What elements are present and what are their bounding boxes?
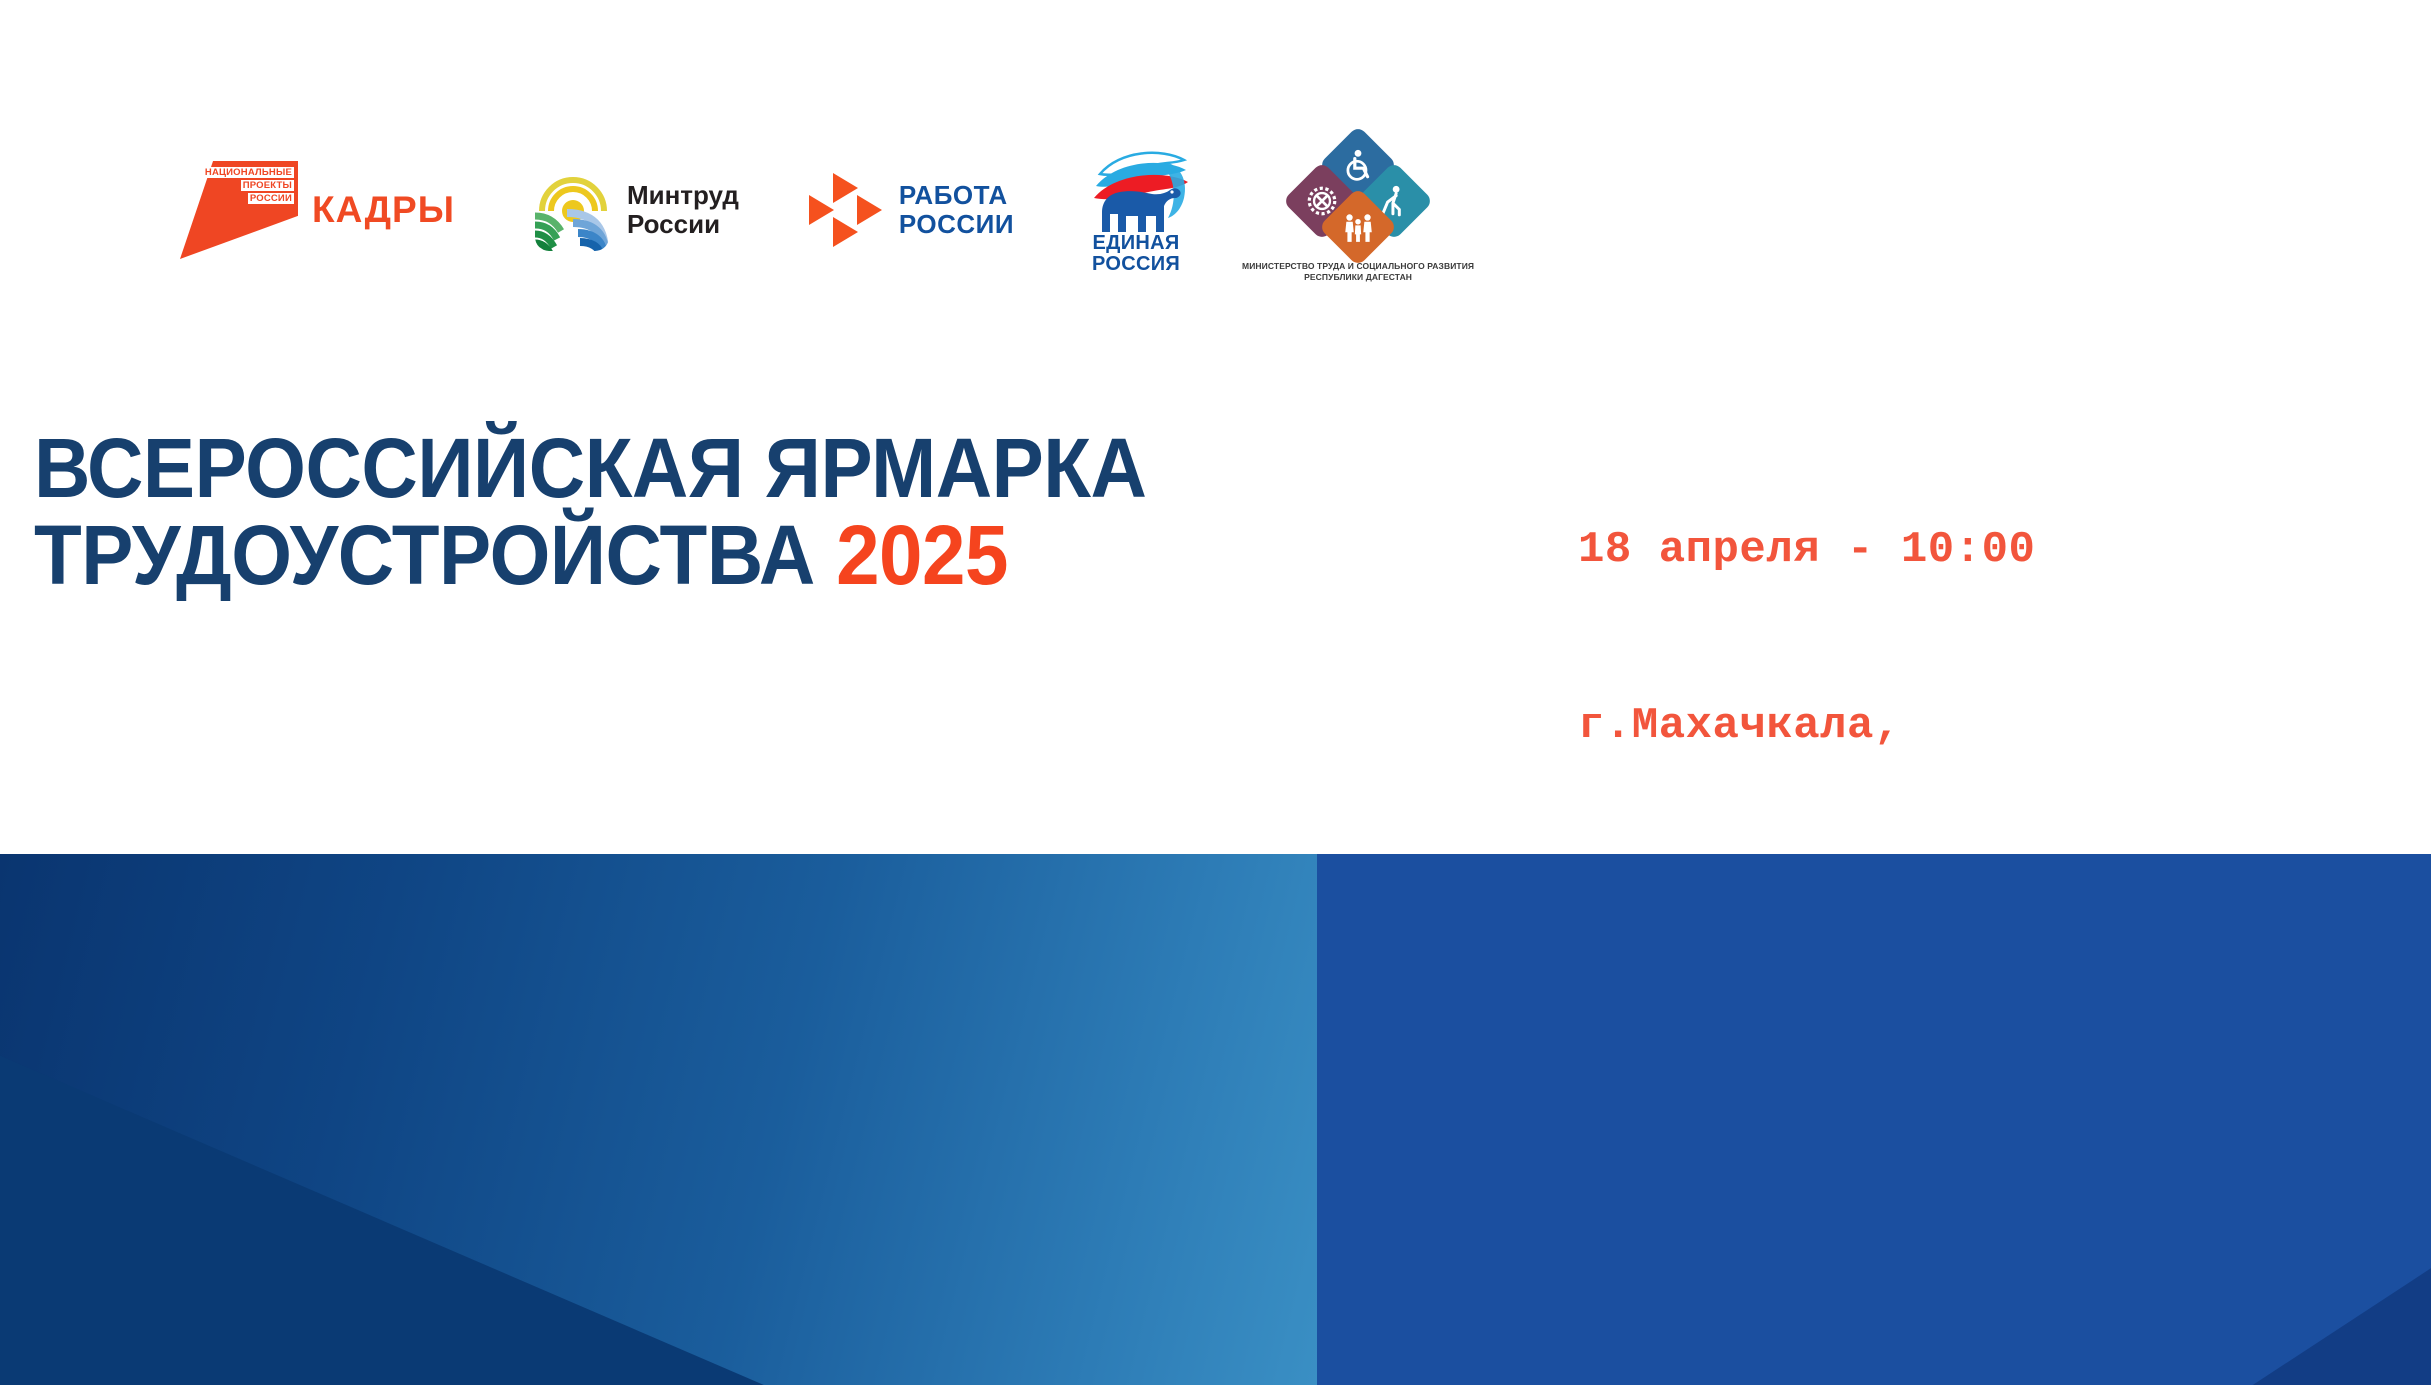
triangle-left	[809, 195, 834, 225]
triangle-bottom	[833, 217, 858, 247]
bottom-decorative-bands	[0, 854, 2431, 1385]
band-left-gradient	[0, 854, 1317, 1385]
headline-year: 2025	[836, 508, 1008, 602]
logo-edinaya-rossiya: ЕДИНАЯ РОССИЯ	[1080, 146, 1192, 274]
flag-line-2: ПРОЕКТЫ	[241, 180, 294, 191]
triangle-top	[833, 173, 858, 203]
mintrud-badge-icon	[533, 167, 611, 253]
er-line-1: ЕДИНАЯ	[1080, 233, 1192, 253]
poster-headline: ВСЕРОССИЙСКАЯ ЯРМАРКА ТРУДОУСТРОЙСТВА 20…	[34, 425, 1262, 600]
headline-line-2: ТРУДОУСТРОЙСТВА	[34, 508, 836, 602]
logo-rabota-rossii: РАБОТА РОССИИ	[809, 173, 1014, 247]
mintrud-wordmark: Минтруд России	[627, 181, 739, 239]
rabota-triangles-icon	[809, 173, 883, 247]
flag-text-lines: НАЦИОНАЛЬНЫЕ ПРОЕКТЫ РОССИИ	[203, 167, 294, 204]
kadry-wordmark: КАДРЫ	[312, 189, 455, 231]
mintrud-badge-svg	[533, 167, 611, 253]
rabota-wordmark: РАБОТА РОССИИ	[899, 181, 1014, 239]
logo-bar: НАЦИОНАЛЬНЫЕ ПРОЕКТЫ РОССИИ КАДРЫ	[0, 130, 2431, 290]
dagestan-diamonds-icon	[1294, 137, 1422, 255]
edinaya-rossiya-emblem-icon: ЕДИНАЯ РОССИЯ	[1080, 146, 1192, 274]
rabota-line-1: РАБОТА	[899, 181, 1014, 210]
band-left-corner-wedge	[0, 854, 1317, 1385]
event-city: г.Махачкала,	[1578, 697, 2398, 756]
logo-mintrud-dagestan: МИНИСТЕРСТВО ТРУДА И СОЦИАЛЬНОГО РАЗВИТИ…	[1242, 137, 1474, 283]
logo-national-projects-kadry: НАЦИОНАЛЬНЫЕ ПРОЕКТЫ РОССИИ КАДРЫ	[180, 161, 455, 259]
edinaya-rossiya-svg	[1080, 146, 1192, 238]
dagestan-caption: МИНИСТЕРСТВО ТРУДА И СОЦИАЛЬНОГО РАЗВИТИ…	[1242, 261, 1474, 283]
headline-line-1: ВСЕРОССИЙСКАЯ ЯРМАРКА	[34, 421, 1146, 515]
er-line-2: РОССИЯ	[1080, 254, 1192, 274]
band-right-corner-wedge	[1317, 854, 2431, 1385]
event-date-time: 18 апреля - 10:00	[1578, 521, 2398, 580]
triangle-right	[857, 195, 882, 225]
headline-line-2-wrap: ТРУДОУСТРОЙСТВА 2025	[34, 512, 1262, 599]
logo-mintrud-rossii: Минтруд России	[533, 167, 739, 253]
national-projects-flag-icon: НАЦИОНАЛЬНЫЕ ПРОЕКТЫ РОССИИ	[180, 161, 298, 259]
edinaya-rossiya-wordmark: ЕДИНАЯ РОССИЯ	[1080, 233, 1192, 274]
mintrud-line-1: Минтруд	[627, 181, 739, 210]
flag-line-3: РОССИИ	[248, 193, 294, 204]
dagestan-caption-line-2: РЕСПУБЛИКИ ДАГЕСТАН	[1242, 272, 1474, 283]
band-right-solid	[1317, 854, 2431, 1385]
poster-root: НАЦИОНАЛЬНЫЕ ПРОЕКТЫ РОССИИ КАДРЫ	[0, 0, 2431, 1385]
rabota-line-2: РОССИИ	[899, 210, 1014, 239]
mintrud-line-2: России	[627, 210, 739, 239]
flag-line-1: НАЦИОНАЛЬНЫЕ	[203, 167, 294, 178]
